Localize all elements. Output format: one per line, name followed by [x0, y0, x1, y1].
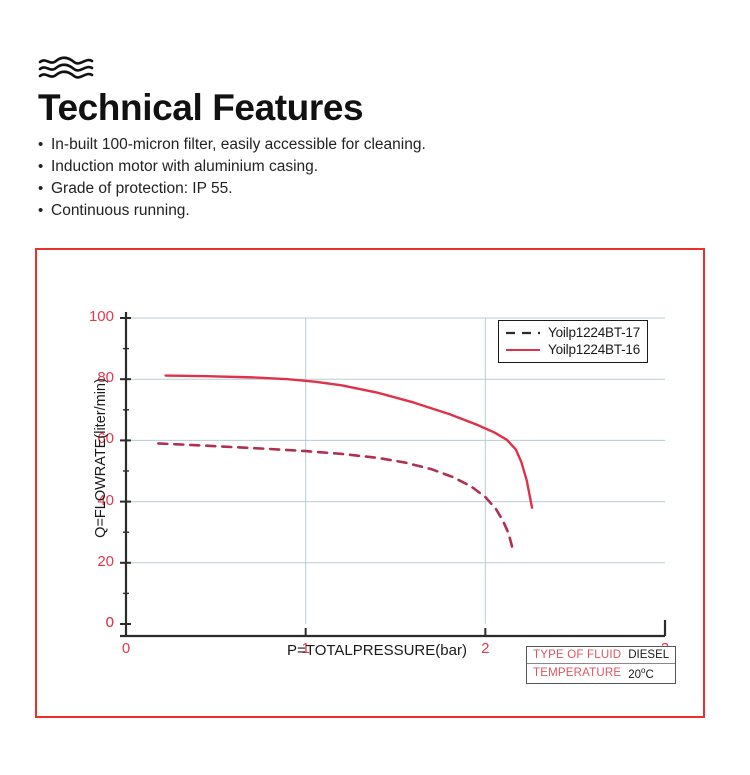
feature-list: In-built 100-micron filter, easily acces…	[38, 134, 698, 222]
legend-swatch-solid-icon	[504, 344, 542, 356]
page-title: Technical Features	[38, 89, 698, 128]
legend-label: Yoilp1224BT-17	[548, 325, 640, 340]
chart-series	[158, 376, 532, 548]
fluid-info-box: TYPE OF FLUID DIESEL TEMPERATURE 20oC	[526, 646, 676, 684]
temperature-unit: C	[646, 669, 654, 681]
fluid-type-label: TYPE OF FLUID	[533, 649, 621, 661]
y-tick-label: 100	[80, 308, 114, 325]
list-item: In-built 100-micron filter, easily acces…	[38, 134, 698, 156]
list-item: Induction motor with aluminium casing.	[38, 156, 698, 178]
legend-item-dashed: Yoilp1224BT-17	[504, 324, 640, 341]
legend-swatch-dashed-icon	[504, 327, 542, 339]
chart-legend: Yoilp1224BT-17 Yoilp1224BT-16	[498, 320, 648, 363]
temperature-value: 20oC	[628, 666, 654, 681]
y-tick-label-zero: 0	[80, 614, 114, 631]
legend-label: Yoilp1224BT-16	[548, 342, 640, 357]
fluid-type-value: DIESEL	[628, 649, 669, 661]
list-item: Continuous running.	[38, 200, 698, 222]
header-block: Technical Features In-built 100-micron f…	[38, 55, 698, 222]
y-axis-title: Q=FLOWRATE(liter/min)	[93, 358, 109, 558]
temperature-row: TEMPERATURE 20oC	[527, 663, 675, 683]
x-axis-title: P=TOTALPRESSURE(bar)	[197, 642, 557, 659]
legend-item-solid: Yoilp1224BT-16	[504, 341, 640, 358]
x-tick-label: 0	[111, 640, 141, 657]
performance-chart: 0204060801000 0123 Q=FLOWRATE(liter/min)…	[37, 250, 707, 720]
chart-gridlines	[126, 318, 665, 624]
water-waves-icon	[38, 55, 94, 83]
chart-panel: 0204060801000 0123 Q=FLOWRATE(liter/min)…	[35, 248, 705, 718]
list-item: Grade of protection: IP 55.	[38, 178, 698, 200]
temperature-number: 20	[628, 669, 641, 681]
fluid-type-row: TYPE OF FLUID DIESEL	[527, 647, 675, 663]
temperature-label: TEMPERATURE	[533, 667, 621, 679]
